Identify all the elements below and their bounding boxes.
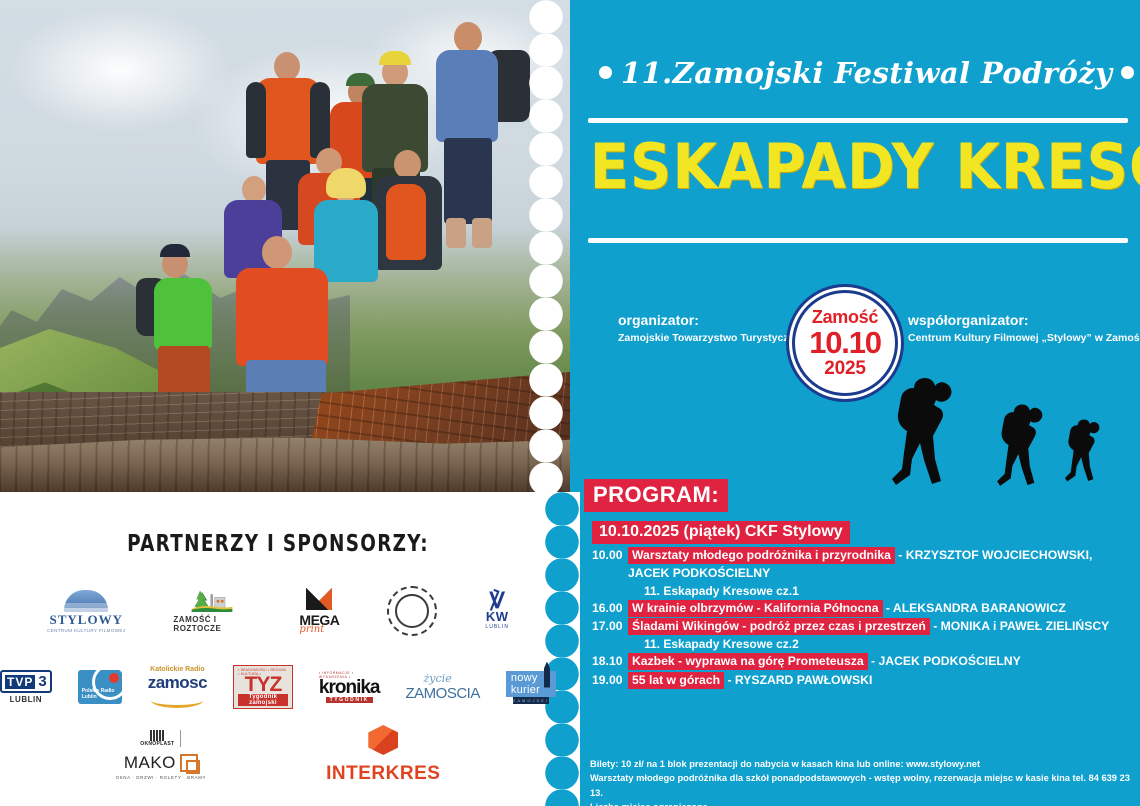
- logo-kronika: • INFORMACJE • WYDARZENIA • kronika TYGO…: [319, 671, 380, 703]
- logo-zycie-zamoscia: życie ZAMOSCIA: [406, 672, 480, 702]
- date-stamp-year: 2025: [824, 359, 865, 378]
- program-item-title: Warsztaty młodego podróżnika i przyrodni…: [628, 547, 895, 564]
- logo-kurier-sub: ZAMOJSKI: [513, 697, 549, 704]
- program-item-time: 19.00: [592, 672, 628, 689]
- program-item-presenter-cont: JACEK PODKOŚCIELNY: [592, 565, 1062, 582]
- interkres-cube-icon: [368, 725, 398, 755]
- logo-interkres: INTERKRES: [326, 725, 440, 785]
- pine-tree-icon: [173, 589, 251, 613]
- logo-tygodnik-zamojski: • WIADOMOŚCI • REGION • KULTURA • TYZ Ty…: [233, 665, 293, 710]
- pttk-emblem-icon: [387, 586, 437, 636]
- logo-krz-sub: Katolickie Radio: [150, 666, 204, 673]
- logo-megaprint-sub: print: [299, 624, 324, 635]
- logo-interkres-label: INTERKRES: [326, 763, 440, 785]
- coorganizer-name: Centrum Kultury Filmowej „Stylowy” w Zam…: [908, 331, 1140, 347]
- logo-stylowy-sub: CENTRUM KULTURY FILMOWEJ: [47, 628, 125, 633]
- logo-tvp3-mark: TVP: [5, 675, 35, 689]
- program-item: 17.00Śladami Wikingów - podróż przez cza…: [592, 618, 1062, 635]
- logo-pttk: [387, 586, 437, 636]
- fineprint-line-1: Bilety: 10 zł/ na 1 blok prezentacji do …: [590, 757, 1130, 771]
- oknoplast-block: OKNOPLAST: [140, 730, 181, 747]
- program-item-title: Śladami Wikingów - podróż przez czas i p…: [628, 618, 930, 635]
- logo-oknoplast-label: OKNOPLAST: [140, 741, 174, 747]
- mako-window-icon: [180, 754, 198, 772]
- logo-kw-sub: LUBLIN: [485, 624, 509, 630]
- coorganizer-block: współorganizator: Centrum Kultury Filmow…: [908, 310, 1140, 347]
- logo-mako-sub: OKNA · DRZWI · ROLETY · BRAMY: [116, 775, 207, 780]
- logo-stylowy: STYLOWY CENTRUM KULTURY FILMOWEJ: [47, 590, 125, 633]
- program-item-time: 10.00: [592, 547, 628, 564]
- fineprint-block: Bilety: 10 zł/ na 1 blok prezentacji do …: [590, 757, 1130, 806]
- logo-tyz-label: TYZ: [245, 676, 282, 695]
- program-item-time: 17.00: [592, 618, 628, 635]
- logo-tyz-sub: Tygodnik zamojski: [238, 694, 288, 706]
- kw-peak-icon: ℣: [490, 592, 505, 610]
- date-stamp-day: 10.10: [809, 327, 881, 358]
- logo-kw-label: KW: [486, 609, 509, 624]
- program-item-title: Kazbek - wyprawa na górę Prometeusza: [628, 653, 868, 670]
- radio-wave-icon: Polskie Radio Lublin: [78, 670, 122, 704]
- divider-rule-top: [588, 118, 1128, 123]
- program-item-title: 55 lat w górach: [628, 672, 724, 689]
- program-item-dash: -: [930, 619, 941, 633]
- program-item: 19.0055 lat w górach - RYSZARD PAWŁOWSKI: [592, 672, 1062, 689]
- logo-megaprint: MEGA print: [299, 588, 339, 635]
- program-item-presenter: RYSZARD PAWŁOWSKI: [735, 673, 872, 687]
- program-item: 16.00W krainie olbrzymów - Kalifornia Pó…: [592, 600, 1062, 617]
- partners-row-3: OKNOPLAST MAKO OKNA · DRZWI · ROLETY · B…: [0, 730, 556, 780]
- radio-dot-icon: [109, 673, 119, 683]
- logo-krz-label: zamosc: [148, 673, 207, 693]
- program-item-presenter: JACEK PODKOŚCIELNY: [878, 654, 1020, 668]
- logo-tvp3-sub: LUBLIN: [10, 695, 42, 704]
- program-item-presenter: ALEKSANDRA BARANOWICZ: [893, 601, 1066, 615]
- hiker-silhouettes: [880, 372, 1130, 504]
- program-item-part: 11. Eskapady Kresowe cz.2: [592, 636, 1062, 653]
- logo-nowy-kurier: nowy kurier ZAMOJSKI: [506, 671, 556, 704]
- logo-katolickie-radio-zamosc: Katolickie Radio zamosc: [148, 666, 207, 708]
- divider-rule-bottom: [588, 238, 1128, 243]
- logo-kronika-label: kronika: [319, 679, 380, 697]
- fineprint-line-2: Warsztaty młodego podróżnika dla szkół p…: [590, 771, 1130, 800]
- logo-zycie-sub: życie: [424, 672, 452, 685]
- program-item-dash: -: [883, 601, 893, 615]
- festival-line: 11.Zamojski Festiwal Podróży: [590, 56, 1130, 90]
- logo-polskie-radio-lublin: Polskie Radio Lublin: [78, 670, 122, 704]
- logo-polskie-radio-label: Polskie Radio Lublin: [82, 688, 122, 701]
- festival-line-text: 11.Zamojski Festiwal Podróży: [621, 56, 1112, 90]
- program-item-title: W krainie olbrzymów - Kalifornia Północn…: [628, 600, 883, 617]
- logo-tvp3-lublin: TVP 3 LUBLIN: [0, 670, 52, 704]
- logo-zamosc-roztocze-label: ZAMOŚĆ I ROZTOCZE: [173, 615, 251, 633]
- pttk-inner-circle-icon: [395, 594, 429, 628]
- logo-mako-label: MAKO: [124, 753, 176, 773]
- logo-zamosc-roztocze: ZAMOŚĆ I ROZTOCZE: [173, 589, 251, 633]
- program-list: 10.00Warsztaty młodego podróżnika i przy…: [592, 547, 1062, 690]
- program-date-header: 10.10.2025 (piątek) CKF Stylowy: [592, 521, 850, 544]
- program-item: 10.00Warsztaty młodego podróżnika i przy…: [592, 547, 1062, 564]
- program-item-dash: -: [724, 673, 735, 687]
- dot-bullet-icon: [599, 66, 612, 79]
- logo-tvp3-number: 3: [35, 673, 46, 690]
- program-item-presenter: KRZYSZTOF WOJCIECHOWSKI,: [906, 548, 1093, 562]
- tvp-badge-icon: TVP 3: [0, 670, 52, 693]
- logo-stylowy-label: STYLOWY: [50, 612, 123, 628]
- stylowy-mark-icon: [64, 590, 108, 612]
- megaprint-x-icon: [306, 588, 332, 610]
- partners-row-2: TVP 3 LUBLIN Polskie Radio Lublin Katoli…: [0, 662, 556, 712]
- hiker-small-icon: [1065, 419, 1099, 481]
- program-item-dash: -: [895, 548, 906, 562]
- hiker-medium-icon: [997, 405, 1042, 486]
- logo-mako-oknoplast: OKNOPLAST MAKO OKNA · DRZWI · ROLETY · B…: [116, 730, 207, 780]
- oknoplast-bars-icon: [150, 730, 164, 741]
- program-item-time: 18.10: [592, 653, 628, 670]
- program-item: 18.10Kazbek - wyprawa na górę Prometeusz…: [592, 653, 1062, 670]
- hiker-large-icon: [892, 378, 951, 485]
- program-item-part: 11. Eskapady Kresowe cz.1: [592, 583, 1062, 600]
- logo-kw-lublin: ℣ KW LUBLIN: [485, 592, 509, 631]
- coorganizer-label: współorganizator:: [908, 310, 1140, 331]
- program-badge: PROGRAM:: [584, 479, 728, 512]
- kurier-tower-icon: [544, 662, 550, 688]
- program-item-presenter: MONIKA i PAWEŁ ZIELIŃSCY: [941, 619, 1110, 633]
- hero-photo: [0, 0, 570, 492]
- date-stamp-city: Zamość: [812, 308, 878, 326]
- fineprint-line-3: Liczba miejsc ograniczona: [590, 800, 1130, 806]
- logo-zycie-label: ZAMOSCIA: [406, 685, 480, 702]
- partners-title: PARTNERZY I SPONSORZY:: [56, 531, 501, 557]
- krz-arc-icon: [151, 693, 203, 708]
- page-title: ESKAPADY KRESOWE: [590, 136, 1111, 198]
- program-item-time: 16.00: [592, 600, 628, 617]
- program-item-dash: -: [868, 654, 879, 668]
- partners-row-1: STYLOWY CENTRUM KULTURY FILMOWEJ ZAMOŚĆ …: [0, 580, 556, 642]
- logo-kronika-sub: TYGODNIK: [326, 697, 373, 703]
- poster-root: 11.Zamojski Festiwal Podróży ESKAPADY KR…: [0, 0, 1140, 806]
